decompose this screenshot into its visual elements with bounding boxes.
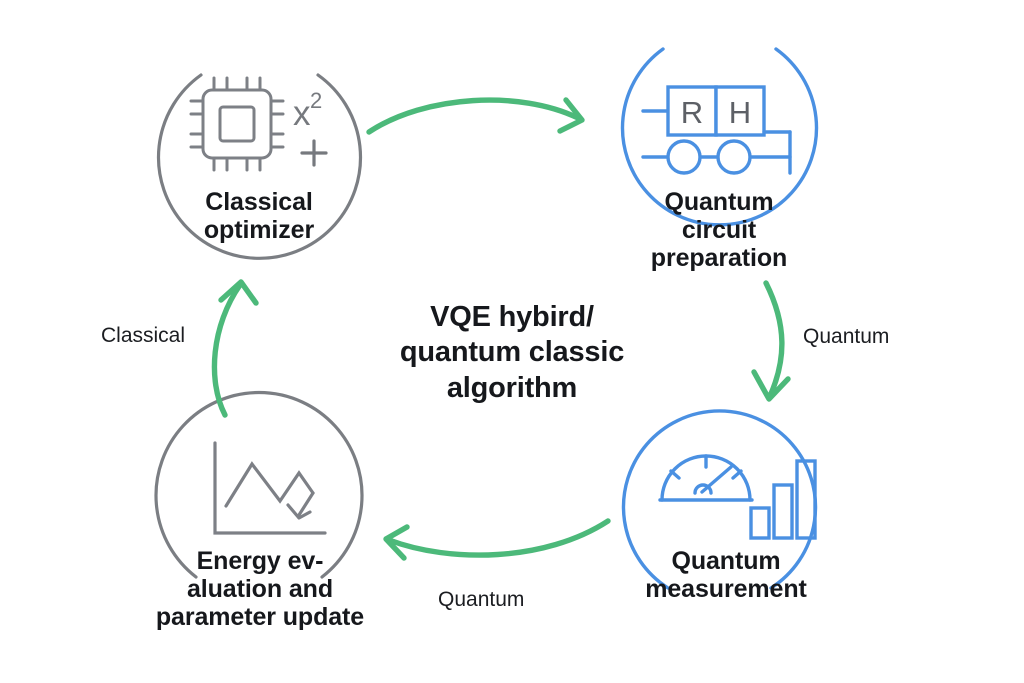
diagram-canvas: x 2 — [0, 0, 1024, 683]
gate-label-r: R — [681, 95, 703, 130]
arrow-measurement-to-energy-evaluation — [386, 521, 608, 558]
node-label-quantum-measurement: Quantum measurement — [612, 547, 840, 603]
svg-text:x: x — [293, 94, 311, 133]
svg-text:2: 2 — [310, 88, 322, 113]
node-label-energy-evaluation: Energy ev- aluation and parameter update — [141, 547, 379, 631]
arrow-quantum-circuit-to-measurement — [754, 283, 788, 399]
declining-line-chart-icon — [215, 443, 325, 533]
edge-label-quantum-bottom: Quantum — [438, 588, 524, 612]
quantum-circuit-icon — [643, 87, 790, 173]
gate-label-h: H — [729, 95, 751, 130]
edge-label-quantum-right: Quantum — [803, 325, 889, 349]
edge-label-classical: Classical — [101, 324, 185, 348]
node-label-classical-optimizer: Classical optimizer — [159, 188, 359, 244]
page-title: VQE hybird/ quantum classic algorithm — [312, 300, 712, 406]
node-label-quantum-circuit-preparation: Quantum circuit preparation — [619, 188, 819, 272]
plus-symbol — [302, 141, 326, 165]
x-squared-symbol: x 2 — [293, 88, 322, 133]
arrow-classical-to-quantum-circuit — [369, 100, 582, 132]
cpu-chip-icon — [191, 78, 283, 170]
gauge-bar-chart-icon — [660, 456, 815, 538]
